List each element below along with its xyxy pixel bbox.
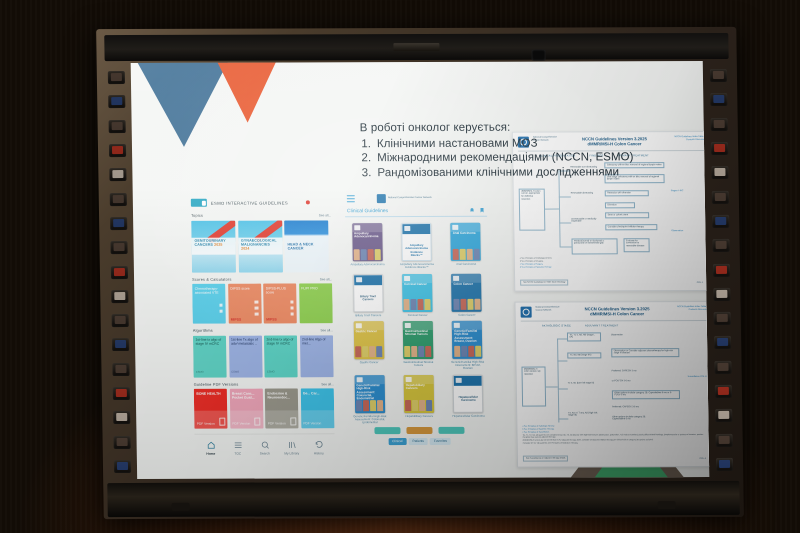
- rail-button[interactable]: [113, 460, 130, 473]
- guideline-label: Colon Cancer: [449, 313, 485, 316]
- see-all-link[interactable]: See all...: [320, 328, 332, 332]
- nav-item-history[interactable]: History: [307, 440, 331, 455]
- document-note: See NCCN Guidelines for Older Adult Onco…: [520, 279, 568, 285]
- topic-card-year: 2025: [214, 242, 222, 246]
- rail-button[interactable]: [110, 266, 127, 279]
- guideline-cover: Biliary Tract Cancers: [353, 274, 384, 312]
- rail-button-icon: [715, 217, 726, 225]
- flow-node: Diversion: [605, 202, 635, 209]
- rail-button[interactable]: [712, 263, 729, 276]
- score-card-title: DIPSS score: [230, 286, 249, 290]
- flow-node: Consider checkpoint inhibitor therapy: [605, 224, 657, 231]
- home-icon: [206, 441, 215, 450]
- guideline-cover: Ampullary Adenocarcinoma Evidence Blocks…: [401, 223, 432, 261]
- slide-text-block: В роботі онколог керується: 1. Клінічним…: [360, 121, 691, 181]
- slide-list-item: 3. Рандомізованими клінічними дослідженн…: [360, 166, 690, 179]
- toc-icon: [233, 441, 242, 450]
- nccn-logo-text: National Comprehensive Cancer Network: [388, 197, 432, 200]
- score-card-badge: MIPSS: [266, 317, 277, 321]
- algorithm-card-title: 1st-line tx algo of stage IV mCRC: [195, 338, 221, 346]
- flow-label: Observation: [611, 334, 641, 337]
- rail-button[interactable]: [713, 312, 730, 325]
- flow-label: Preferred: CAPEOX 3-6 mo: [612, 406, 652, 409]
- rail-button[interactable]: [108, 95, 125, 108]
- guideline-cover: Gastric Cancer: [353, 321, 384, 359]
- rail-button[interactable]: [107, 71, 124, 84]
- guideline-cover: Colon Cancer: [451, 273, 482, 311]
- algorithm-card[interactable]: 2nd-line Algo of met...: [299, 335, 333, 377]
- rail-button-icon: [116, 462, 127, 470]
- flow-node: Observation or Consider adjuvant chemoth…: [611, 348, 679, 358]
- nav-item-toc[interactable]: TOC: [226, 441, 250, 456]
- section-title: Scores & Calculators: [192, 277, 232, 281]
- nav-label: Home: [206, 452, 215, 456]
- guideline-label: Ampullary Adenocarcinoma Evidence Blocks…: [399, 263, 435, 270]
- flow-outcome-link[interactable]: Observation: [671, 230, 701, 233]
- guideline-cover: Genetic/Familial High-Risk Assessment: B…: [452, 321, 483, 359]
- esmo-bottom-nav: Home TOC Search My Library: [194, 433, 334, 455]
- guideline-label: Gastric Cancer: [351, 361, 387, 364]
- algorithm-card[interactable]: 1st-line tx algo of stage IV mCRC ESMO: [193, 335, 227, 377]
- pdf-card-title: Breast Canc... Pocket Guid...: [232, 391, 260, 399]
- rail-button[interactable]: [111, 290, 128, 303]
- rail-button[interactable]: [711, 190, 728, 203]
- esmo-watermark: ESMO: [267, 371, 275, 375]
- guideline-item[interactable]: Gastric CancerGastric Cancer: [347, 321, 391, 371]
- rail-button[interactable]: [709, 69, 726, 82]
- flow-node: Evaluate for conversion to resectable di…: [623, 238, 649, 252]
- guideline-label: Anal Carcinoma: [448, 263, 484, 266]
- document-icon: [254, 418, 260, 426]
- cover-photo: [405, 400, 432, 411]
- cover-title: Genetic/Familial High-Risk Assessment: C…: [356, 384, 382, 401]
- whiteboard-pen-tray: [107, 481, 740, 517]
- brand-plate: [393, 43, 439, 51]
- rail-button[interactable]: [112, 363, 129, 376]
- cover-title: Anal Carcinoma: [453, 232, 479, 235]
- nccn-app-screenshot: National Comprehensive Cancer Network Cl…: [345, 194, 491, 445]
- pdf-card-version: PDF Version: [232, 422, 250, 426]
- see-all-link[interactable]: See all...: [319, 213, 331, 217]
- rail-button-icon: [113, 219, 124, 227]
- rail-button-icon: [717, 363, 728, 371]
- esmo-logo-icon: [191, 199, 207, 207]
- see-all-link[interactable]: See all...: [321, 382, 333, 386]
- esmo-section-pdf: Guideline PDF Versions See all... BONE H…: [194, 382, 335, 429]
- rail-button-icon: [716, 314, 727, 322]
- cover-photo: [452, 248, 479, 259]
- algorithm-card-title: 2nd-line Algo of met...: [302, 337, 325, 345]
- pdf-card-title: Ge... Car...: [303, 391, 331, 395]
- score-card-title: FLIPI PRO: [301, 286, 317, 290]
- slide-lead: В роботі онколог керується:: [360, 121, 690, 134]
- cover-title: Genetic/Familial High-Risk Assessment: B…: [454, 330, 480, 344]
- list-number: 2.: [360, 152, 371, 164]
- esmo-section-scores: Scores & Calculators See all... Chemothe…: [192, 277, 333, 324]
- guideline-label: Genetic/Familial High-Risk Assessment: C…: [352, 415, 388, 425]
- rail-button[interactable]: [113, 411, 130, 424]
- footnote-link[interactable]: d See Principles of Systemic Therapy.: [520, 266, 708, 269]
- rail-button-icon: [114, 292, 125, 300]
- topic-card[interactable]: HEAD & NECK CANCER: [284, 220, 329, 272]
- guideline-item[interactable]: Hepatobiliary CancersHepatobiliary Cance…: [397, 375, 441, 425]
- nccn-logo-icon: [453, 225, 459, 230]
- cover-title: Biliary Tract Cancers: [356, 295, 380, 302]
- rail-button-icon: [110, 73, 121, 81]
- guideline-label: Genetic/Familial High-Risk Assessment: B…: [450, 361, 486, 371]
- rail-button[interactable]: [712, 239, 729, 252]
- cover-title: Ampullary Adenocarcinoma: [354, 232, 380, 239]
- slide-list-item: 2. Міжнародними рекомендаціями (NCCN, ES…: [360, 151, 690, 164]
- list-text: Клінічними настановами МОЗ: [377, 137, 538, 150]
- flow-node-entry: dMMR/MSI-H colon cancer, s/p resection: [521, 366, 546, 406]
- guideline-item[interactable]: Genetic/Familial High-Risk Assessment: B…: [445, 321, 489, 371]
- esmo-watermark: ESMO: [196, 371, 204, 375]
- section-title: Algorithms: [193, 329, 213, 333]
- score-card-badge: MIPSS: [231, 317, 242, 321]
- nccn-logo-icon: [405, 323, 411, 328]
- cover-title: Hepatocellular Carcinoma: [456, 396, 480, 403]
- nccn-logo-icon: [453, 275, 459, 280]
- projected-screen: В роботі онколог керується: 1. Клінічним…: [131, 61, 710, 479]
- rail-button-icon: [114, 316, 125, 324]
- rail-button[interactable]: [110, 241, 127, 254]
- cover-photo: [404, 299, 431, 310]
- nccn-logo-icon: [404, 226, 410, 231]
- nccn-logo-icon: [377, 194, 386, 203]
- guideline-cover: Hepatocellular Carcinoma: [453, 375, 484, 413]
- flow-outcome-link[interactable]: Surveillance COL-9: [688, 376, 710, 379]
- guideline-label: Cervical Cancer: [400, 314, 436, 317]
- history-icon: [314, 440, 323, 449]
- rail-button[interactable]: [113, 436, 130, 449]
- flow-node: Resection with diversion: [605, 190, 649, 197]
- guidelines-grid: Ampullary AdenocarcinomaAmpullary Adenoc…: [345, 223, 490, 425]
- cover-title: Ampullary Adenocarcinoma Evidence Blocks…: [405, 244, 429, 258]
- flow-label: Other options include category 2B: Capec…: [612, 416, 652, 422]
- camera-icon: [532, 50, 546, 61]
- pdf-card-version: PDF Version: [268, 422, 286, 426]
- guideline-item[interactable]: Hepatocellular CarcinomaHepatocellular C…: [446, 375, 490, 425]
- cover-photo: [356, 400, 383, 411]
- rail-button-icon: [111, 97, 122, 105]
- nccn-bottom-tabs: Clinical Patients Favorites: [349, 437, 491, 444]
- rail-button[interactable]: [715, 409, 732, 422]
- algorithm-card-title: 2nd-line tx algo of stage IV mCRC: [266, 337, 293, 345]
- guideline-item[interactable]: Anal CarcinomaAnal Carcinoma: [444, 223, 488, 270]
- guideline-cover: Genetic/Familial High-Risk Assessment: C…: [354, 375, 385, 413]
- score-card[interactable]: FLIPI PRO: [299, 283, 333, 323]
- flow-node: Stent or colonic stent: [605, 212, 649, 219]
- flow-node: T3, N0, M0 (stage IIA): [567, 352, 601, 359]
- rail-button-icon: [713, 120, 724, 128]
- rail-button[interactable]: [109, 168, 126, 181]
- rail-button[interactable]: [714, 361, 731, 374]
- flow-label: Preferred: CAPEOX 3 mo: [612, 370, 652, 373]
- pdf-card[interactable]: Endocrine & Neuroendoc... PDF Version: [265, 388, 299, 428]
- pdf-card-title: Endocrine & Neuroendoc...: [267, 391, 295, 399]
- bookmark-icon[interactable]: [479, 207, 485, 214]
- score-card-title: Chemotherapy-associated VTE: [195, 286, 219, 294]
- rail-button[interactable]: [713, 288, 730, 301]
- rail-button-icon: [116, 438, 127, 446]
- whiteboard-top-bar: [104, 33, 728, 61]
- rail-button-icon: [111, 122, 122, 130]
- nav-item-home[interactable]: Home: [199, 441, 223, 456]
- rail-button-icon: [718, 411, 729, 419]
- flowchart-2: dMMR/MSI-H colon cancer, s/p resection T…: [521, 330, 709, 431]
- guideline-cover: Ampullary Adenocarcinoma: [352, 223, 383, 261]
- esmo-app-screenshot: ESMO INTERACTIVE GUIDELINES Topics See a…: [191, 198, 335, 455]
- document-page-number: COL-1: [697, 282, 703, 284]
- guideline-label: Biliary Tract Cancers: [350, 314, 386, 317]
- rail-button[interactable]: [710, 93, 727, 106]
- rail-button-icon: [718, 436, 729, 444]
- section-title: Guideline PDF Versions: [194, 382, 239, 386]
- rail-button[interactable]: [715, 434, 732, 447]
- rail-button-icon: [717, 338, 728, 346]
- footnote-line: Consider RT for T4b patients; see Princi…: [523, 442, 710, 445]
- rail-button[interactable]: [715, 458, 732, 471]
- esmo-app-title: ESMO INTERACTIVE GUIDELINES: [211, 200, 288, 205]
- rail-button[interactable]: [712, 215, 729, 228]
- cover-photo: [453, 299, 480, 310]
- section-title: Topics: [191, 214, 203, 218]
- algorithm-card-title: 1st-line Tx algo of adv/ metastatic ..: [231, 338, 258, 346]
- rail-button-icon: [713, 95, 724, 103]
- nccn-org-name: National Comprehensive Cancer Network: [536, 307, 560, 312]
- document-title: NCCN Guidelines Version 3.2025 dMMR/MSI-…: [564, 306, 671, 316]
- guideline-item[interactable]: Genetic/Familial High-Risk Assessment: C…: [348, 375, 392, 425]
- rail-button[interactable]: [112, 387, 129, 400]
- rail-button[interactable]: [711, 166, 728, 179]
- rail-button-icon: [113, 268, 124, 276]
- nccn-logo-icon: [454, 323, 460, 328]
- score-card[interactable]: DIPSS score MIPSS: [228, 284, 262, 324]
- algorithm-card[interactable]: 1st-line Tx algo of adv/ metastatic .. E…: [228, 335, 262, 377]
- rail-button[interactable]: [111, 338, 128, 351]
- rail-button-icon: [715, 265, 726, 273]
- list-text: Міжнародними рекомендаціями (NCCN, ESMO): [377, 151, 633, 164]
- flow-outcome-link[interactable]: Stages I–IIIC: [671, 190, 701, 193]
- rail-button-icon: [717, 387, 728, 395]
- nccn-logo-icon: [521, 307, 532, 318]
- score-card[interactable]: DIPSS-PLUS score MIPSS: [263, 283, 297, 323]
- document-icon: [290, 417, 296, 425]
- rail-button[interactable]: [111, 314, 128, 327]
- esmo-header: ESMO INTERACTIVE GUIDELINES: [191, 198, 331, 206]
- nccn-logo-icon: [355, 323, 361, 328]
- document-page-number: COL-4: [699, 458, 705, 460]
- flow-node-entry: dMMR/MSI-H colon cancer, appropriate for…: [519, 188, 546, 230]
- topic-card[interactable]: GYNAECOLOGICAL MALIGNANCIES 2024: [238, 220, 283, 272]
- tab-favorites[interactable]: Favorites: [430, 438, 451, 445]
- rail-button-icon: [714, 144, 725, 152]
- rail-button-icon: [715, 241, 726, 249]
- cover-photo: [354, 249, 381, 260]
- pdf-card[interactable]: BONE HEALTH PDF Version: [194, 389, 228, 429]
- rail-button[interactable]: [714, 385, 731, 398]
- flow-label: Unresectable or medically inoperable: [571, 218, 599, 224]
- search-icon: [260, 441, 269, 450]
- rail-button-icon: [112, 195, 123, 203]
- guideline-item[interactable]: Ampullary Adenocarcinoma Evidence Blocks…: [395, 223, 439, 270]
- topic-card-title: HEAD & NECK CANCER: [287, 242, 325, 251]
- guideline-cover: Cervical Cancer: [402, 274, 433, 312]
- pdf-card-title: BONE HEALTH: [196, 391, 224, 395]
- flow-node: Pembrolizumab or nivolumab ± ipilimumab …: [571, 238, 617, 254]
- flow-label: or FOLFOX 3-6 mo: [612, 380, 652, 383]
- nccn-logo-icon: [456, 378, 462, 383]
- rail-button-icon: [115, 389, 126, 397]
- topic-card-year: 2024: [241, 247, 249, 251]
- cover-photo: [405, 346, 432, 357]
- tab-underlay: [348, 426, 490, 433]
- score-card-title: DIPSS-PLUS score: [266, 286, 286, 294]
- nav-label: TOC: [234, 452, 241, 456]
- guideline-label: Hepatocellular Carcinoma: [451, 415, 487, 418]
- cover-title: Cervical Cancer: [404, 283, 430, 286]
- cover-photo: [355, 347, 382, 358]
- nccn-logo-icon: [356, 277, 362, 282]
- flow-label: T4, N1-2 / T any, N2 (high-risk stage II…: [568, 412, 602, 418]
- slide-list: 1. Клінічними настановами МОЗ 2. Міжнаро…: [360, 137, 691, 179]
- column-header: ADJUVANT TREATMENT: [585, 324, 618, 327]
- library-icon: [287, 440, 296, 449]
- document-footnotes: a See Principles of Pathologic Review. b…: [522, 425, 709, 464]
- guideline-cover: Hepatobiliary Cancers: [404, 375, 435, 413]
- rail-button-icon: [718, 460, 729, 468]
- document-index-links[interactable]: NCCN Guidelines Index Table of Contents …: [675, 306, 709, 312]
- nccn-logo-icon: [354, 225, 360, 230]
- flow-node: Tis, T1-2, N0, M0 (stage I, IIA): [567, 332, 601, 342]
- guideline-item[interactable]: Biliary Tract CancersBiliary Tract Cance…: [346, 274, 390, 317]
- slide-list-item: 1. Клінічними настановами МОЗ: [360, 137, 690, 150]
- esmo-watermark: ESMO: [232, 371, 240, 375]
- guideline-cover: Gastrointestinal Stromal Tumors: [403, 321, 434, 359]
- rail-button[interactable]: [109, 193, 126, 206]
- document-footnotes: a See Principles of Pathologic Review. b…: [520, 257, 708, 288]
- flow-label: Resectable obstructing: [571, 192, 599, 195]
- rail-button[interactable]: [108, 120, 125, 133]
- cover-photo: [454, 346, 481, 357]
- tab-patients[interactable]: Patients: [408, 438, 428, 445]
- guideline-label: Ampullary Adenocarcinoma: [349, 263, 385, 266]
- record-dot-icon: [306, 200, 310, 204]
- rail-button-icon: [714, 168, 725, 176]
- pdf-card-version: PDF Version: [303, 422, 321, 426]
- guideline-item[interactable]: Ampullary AdenocarcinomaAmpullary Adenoc…: [345, 223, 389, 270]
- rail-button[interactable]: [108, 144, 125, 157]
- rail-button-icon: [115, 340, 126, 348]
- nav-label: Search: [260, 452, 270, 456]
- guideline-label: Gastrointestinal Stromal Tumors: [400, 361, 436, 368]
- rail-button-icon: [714, 193, 725, 201]
- see-all-link[interactable]: See all...: [320, 277, 332, 281]
- rail-button-icon: [115, 365, 126, 373]
- nav-item-search[interactable]: Search: [253, 440, 277, 455]
- rail-button[interactable]: [110, 217, 127, 230]
- esmo-section-algorithms: Algorithms See all... 1st-line tx algo o…: [193, 328, 334, 377]
- rail-button[interactable]: [710, 142, 727, 155]
- score-card[interactable]: Chemotherapy-associated VTE: [192, 284, 226, 324]
- divider: [521, 320, 709, 321]
- topic-card-title: GENITOURINARY CANCERS 2025: [194, 238, 232, 247]
- column-header: PATHOLOGIC STAGE: [542, 324, 571, 327]
- guideline-item[interactable]: Cervical CancerCervical Cancer: [395, 274, 439, 317]
- pdf-card-version: PDF Version: [197, 423, 215, 427]
- hamburger-icon[interactable]: [347, 195, 355, 201]
- list-number: 1.: [360, 138, 371, 150]
- rail-button-icon: [116, 413, 127, 421]
- tab-clinical[interactable]: Clinical: [388, 438, 406, 445]
- nav-label: History: [314, 451, 324, 455]
- nav-label: My Library: [284, 451, 299, 455]
- topic-card-title: GYNAECOLOGICAL MALIGNANCIES 2024: [241, 238, 279, 251]
- rail-button-icon: [112, 170, 123, 178]
- nccn-logo-icon: [406, 377, 412, 382]
- nccn-app-header: National Comprehensive Cancer Network: [345, 194, 487, 203]
- flow-node: Other options include category 2B: Capec…: [612, 390, 680, 400]
- rail-button-icon: [712, 71, 723, 79]
- guideline-item[interactable]: Colon CancerColon Cancer: [445, 273, 489, 316]
- rail-button[interactable]: [710, 118, 727, 131]
- nav-item-my-library[interactable]: My Library: [280, 440, 304, 455]
- interactive-whiteboard: В роботі онколог керується: 1. Клінічним…: [96, 27, 744, 519]
- cover-title: Gastrointestinal Stromal Tumors: [405, 330, 431, 337]
- guideline-label: Hepatobiliary Cancers: [401, 415, 437, 418]
- rail-button-icon: [716, 290, 727, 298]
- section-title: Clinical Guidelines: [347, 208, 388, 214]
- cover-title: Hepatobiliary Cancers: [406, 384, 432, 391]
- rail-button-icon: [111, 146, 122, 154]
- notification-bell-icon[interactable]: [469, 207, 475, 214]
- topic-card[interactable]: GENITOURINARY CANCERS 2025: [191, 220, 236, 272]
- nccn-document-page-2: National Comprehensive Cancer Network NC…: [514, 301, 709, 468]
- cover-title: Gastric Cancer: [356, 330, 382, 333]
- rail-button-icon: [113, 243, 124, 251]
- algorithm-card[interactable]: 2nd-line tx algo of stage IV mCRC ESMO: [264, 335, 298, 377]
- pdf-card[interactable]: Ge... Car... PDF Version: [300, 388, 334, 428]
- flow-label: T1-3, N1 (low-risk stage III): [568, 382, 602, 385]
- document-note: See Surveillance on adjuvant therapy det…: [523, 455, 569, 461]
- pdf-card[interactable]: Breast Canc... Pocket Guid... PDF Versio…: [229, 389, 263, 429]
- guideline-cover: Anal Carcinoma: [451, 223, 482, 261]
- esmo-section-topics: Topics See all... GENITOURINARY CANCERS …: [191, 213, 332, 272]
- nccn-logo-icon: [356, 377, 362, 382]
- cover-title: Colon Cancer: [453, 282, 479, 285]
- guideline-item[interactable]: Gastrointestinal Stromal TumorsGastroint…: [396, 321, 440, 371]
- clinical-guidelines-bar: Clinical Guidelines: [345, 207, 487, 217]
- list-number: 3.: [360, 167, 371, 179]
- rail-button[interactable]: [714, 336, 731, 349]
- decor-triangle-orange: [217, 61, 278, 123]
- list-text: Рандомізованими клінічними дослідженнями: [377, 166, 619, 179]
- nccn-logo-icon: [404, 276, 410, 281]
- document-icon: [219, 418, 225, 426]
